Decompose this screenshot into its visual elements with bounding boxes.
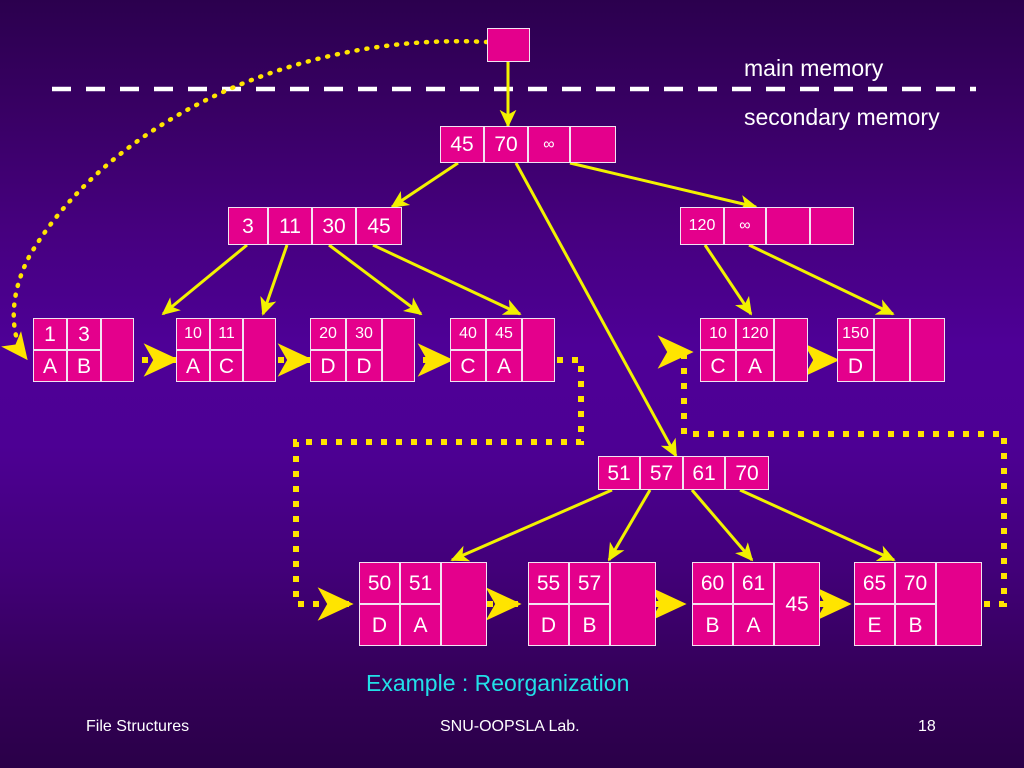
leaf-150-key-0[interactable]: 150 xyxy=(837,318,874,350)
leaf-20-30[interactable]: 20 D 30 D xyxy=(310,318,415,382)
leaf-10-120-empty[interactable] xyxy=(774,318,808,382)
leaf-40-45[interactable]: 40 C 45 A xyxy=(450,318,555,382)
leaf-1-3[interactable]: 1 A 3 B xyxy=(33,318,134,382)
leaf-55-57[interactable]: 55 D 57 B xyxy=(528,562,656,646)
edge-root-innerleft xyxy=(392,163,458,207)
leaf-55-57-key-0[interactable]: 55 xyxy=(528,562,569,604)
leaf-65-70-slot-0[interactable]: 65 E xyxy=(854,562,895,646)
slide-canvas: main memory secondary memory Example : R… xyxy=(0,0,1024,768)
leaf-60-61-val-0[interactable]: B xyxy=(692,604,733,646)
leaf-50-51-slot-1[interactable]: 51 A xyxy=(400,562,441,646)
leaf-65-70-val-0[interactable]: E xyxy=(854,604,895,646)
leaf-1-3-key-1[interactable]: 3 xyxy=(67,318,101,350)
leaf-20-30-slot-2[interactable] xyxy=(382,318,415,382)
innerright-cell-1[interactable]: ∞ xyxy=(724,207,766,245)
leaf-10-120-key-1[interactable]: 120 xyxy=(736,318,774,350)
leaf-40-45-key-1[interactable]: 45 xyxy=(486,318,522,350)
leaf-10-11-key-0[interactable]: 10 xyxy=(176,318,210,350)
edge-innerleft-leaf3 xyxy=(329,245,421,314)
innerright-cell-0[interactable]: 120 xyxy=(680,207,724,245)
slide-caption: Example : Reorganization xyxy=(366,670,629,697)
leaf-1-3-slot-2[interactable] xyxy=(101,318,134,382)
edge-innerright-leaf5 xyxy=(705,245,751,314)
leaf-10-120-slot-1[interactable]: 120 A xyxy=(736,318,774,382)
leaf-150-empty-1[interactable] xyxy=(874,318,910,382)
leaf-150-empty-2[interactable] xyxy=(910,318,945,382)
innerbottom-cell-1[interactable]: 57 xyxy=(640,456,683,490)
leaf-1-3-val-1[interactable]: B xyxy=(67,350,101,382)
leaf-1-3-slot-0[interactable]: 1 A xyxy=(33,318,67,382)
leaf-10-11-empty[interactable] xyxy=(243,318,276,382)
leaf-20-30-slot-1[interactable]: 30 D xyxy=(346,318,382,382)
leaf-20-30-val-0[interactable]: D xyxy=(310,350,346,382)
leaf-60-61-key-0[interactable]: 60 xyxy=(692,562,733,604)
leaf-55-57-key-1[interactable]: 57 xyxy=(569,562,610,604)
root-cell-3[interactable] xyxy=(570,126,616,163)
leaf-10-11-key-1[interactable]: 11 xyxy=(210,318,243,350)
innerleft-cell-2[interactable]: 30 xyxy=(312,207,356,245)
leaf-65-70-merged[interactable] xyxy=(936,562,982,646)
inner-node-bottom[interactable]: 51 57 61 70 xyxy=(598,456,769,490)
leaf-40-45-slot-0[interactable]: 40 C xyxy=(450,318,486,382)
root-cell-1[interactable]: 70 xyxy=(484,126,528,163)
edge-innerright-leaf6 xyxy=(749,245,893,314)
leaf-10-120[interactable]: 10 C 120 A xyxy=(700,318,808,382)
leaf-65-70-val-1[interactable]: B xyxy=(895,604,936,646)
leaf-50-51-val-1[interactable]: A xyxy=(400,604,441,646)
leaf-10-120-slot-0[interactable]: 10 C xyxy=(700,318,736,382)
leaf-50-51-key-0[interactable]: 50 xyxy=(359,562,400,604)
innerright-cell-3[interactable] xyxy=(810,207,854,245)
leaf-55-57-slot-2[interactable] xyxy=(610,562,656,646)
footer-center: SNU-OOPSLA Lab. xyxy=(440,718,580,736)
footer-left: File Structures xyxy=(86,718,189,736)
leaf-20-30-empty[interactable] xyxy=(382,318,415,382)
root-cell-0[interactable]: 45 xyxy=(440,126,484,163)
root-pointer-box[interactable] xyxy=(487,28,530,62)
link-rootptr-firstleaf xyxy=(14,41,487,358)
innerbottom-cell-0[interactable]: 51 xyxy=(598,456,640,490)
footer-right: 18 xyxy=(918,718,936,736)
leaf-10-11-val-1[interactable]: C xyxy=(210,350,243,382)
leaf-40-45-val-0[interactable]: C xyxy=(450,350,486,382)
leaf-10-11-slot-2[interactable] xyxy=(243,318,276,382)
leaf-150[interactable]: 150 D xyxy=(837,318,945,382)
leaf-150-slot-0[interactable]: 150 D xyxy=(837,318,874,382)
leaf-50-51-slot-0[interactable]: 50 D xyxy=(359,562,400,646)
leaf-1-3-val-0[interactable]: A xyxy=(33,350,67,382)
leaf-65-70-key-1[interactable]: 70 xyxy=(895,562,936,604)
leaf-50-51-merged[interactable] xyxy=(441,562,487,646)
leaf-150-val-0[interactable]: D xyxy=(837,350,874,382)
leaf-55-57-val-1[interactable]: B xyxy=(569,604,610,646)
edge-innerbottom-leaf8 xyxy=(609,490,650,560)
innerleft-cell-1[interactable]: 11 xyxy=(268,207,312,245)
leaf-1-3-key-0[interactable]: 1 xyxy=(33,318,67,350)
innerbottom-cell-3[interactable]: 70 xyxy=(725,456,769,490)
innerbottom-cell-2[interactable]: 61 xyxy=(683,456,725,490)
leaf-55-57-slot-1[interactable]: 57 B xyxy=(569,562,610,646)
main-memory-label: main memory xyxy=(744,55,883,82)
leaf-10-120-slot-2[interactable] xyxy=(774,318,808,382)
leaf-10-120-key-0[interactable]: 10 xyxy=(700,318,736,350)
leaf-55-57-merged[interactable] xyxy=(610,562,656,646)
leaf-10-11-slot-1[interactable]: 11 C xyxy=(210,318,243,382)
root-cell-2[interactable]: ∞ xyxy=(528,126,570,163)
leaf-150-slot-2[interactable] xyxy=(910,318,945,382)
edge-innerbottom-leaf10 xyxy=(740,490,894,560)
leaf-20-30-slot-0[interactable]: 20 D xyxy=(310,318,346,382)
innerleft-cell-0[interactable]: 3 xyxy=(228,207,268,245)
leaf-60-61-slot-1[interactable]: 61 A xyxy=(733,562,774,646)
leaf-40-45-val-1[interactable]: A xyxy=(486,350,522,382)
leaf-65-70-slot-1[interactable]: 70 B xyxy=(895,562,936,646)
leaf-60-61[interactable]: 60 B 61 A 45 xyxy=(692,562,820,646)
leaf-1-3-slot-1[interactable]: 3 B xyxy=(67,318,101,382)
leaf-150-slot-1[interactable] xyxy=(874,318,910,382)
root-pointer-cell[interactable] xyxy=(487,28,530,62)
innerleft-cell-3[interactable]: 45 xyxy=(356,207,402,245)
leaf-20-30-key-0[interactable]: 20 xyxy=(310,318,346,350)
leaf-55-57-val-0[interactable]: D xyxy=(528,604,569,646)
leaf-60-61-merged[interactable]: 45 xyxy=(774,562,820,646)
leaf-50-51-slot-2[interactable] xyxy=(441,562,487,646)
secondary-memory-label: secondary memory xyxy=(744,104,940,131)
leaf-40-45-key-0[interactable]: 40 xyxy=(450,318,486,350)
leaf-50-51[interactable]: 50 D 51 A xyxy=(359,562,487,646)
edge-innerbottom-leaf9 xyxy=(692,490,752,560)
innerright-cell-2[interactable] xyxy=(766,207,810,245)
leaf-10-120-val-1[interactable]: A xyxy=(736,350,774,382)
edge-innerleft-leaf2 xyxy=(263,245,287,314)
leaf-40-45-slot-1[interactable]: 45 A xyxy=(486,318,522,382)
leaf-20-30-key-1[interactable]: 30 xyxy=(346,318,382,350)
leaf-1-3-empty[interactable] xyxy=(101,318,134,382)
leaf-60-61-key-1[interactable]: 61 xyxy=(733,562,774,604)
leaf-60-61-val-1[interactable]: A xyxy=(733,604,774,646)
leaf-65-70-key-0[interactable]: 65 xyxy=(854,562,895,604)
leaf-55-57-slot-0[interactable]: 55 D xyxy=(528,562,569,646)
root-index-node[interactable]: 45 70 ∞ xyxy=(440,126,616,163)
edge-innerleft-leaf4 xyxy=(373,245,520,314)
leaf-40-45-slot-2[interactable] xyxy=(522,318,555,382)
inner-node-left[interactable]: 3 11 30 45 xyxy=(228,207,402,245)
edge-root-innerbottom xyxy=(516,163,676,456)
leaf-10-120-val-0[interactable]: C xyxy=(700,350,736,382)
edge-innerleft-leaf1 xyxy=(163,245,247,314)
leaf-10-11-val-0[interactable]: A xyxy=(176,350,210,382)
leaf-60-61-slot-2[interactable]: 45 xyxy=(774,562,820,646)
leaf-40-45-empty[interactable] xyxy=(522,318,555,382)
leaf-50-51-val-0[interactable]: D xyxy=(359,604,400,646)
leaf-60-61-slot-0[interactable]: 60 B xyxy=(692,562,733,646)
leaf-10-11[interactable]: 10 A 11 C xyxy=(176,318,276,382)
leaf-65-70-slot-2[interactable] xyxy=(936,562,982,646)
edge-root-innerright xyxy=(570,163,756,207)
edge-innerbottom-leaf7 xyxy=(452,490,612,560)
leaf-65-70[interactable]: 65 E 70 B xyxy=(854,562,982,646)
inner-node-right[interactable]: 120 ∞ xyxy=(680,207,854,245)
leaf-50-51-key-1[interactable]: 51 xyxy=(400,562,441,604)
leaf-20-30-val-1[interactable]: D xyxy=(346,350,382,382)
leaf-10-11-slot-0[interactable]: 10 A xyxy=(176,318,210,382)
